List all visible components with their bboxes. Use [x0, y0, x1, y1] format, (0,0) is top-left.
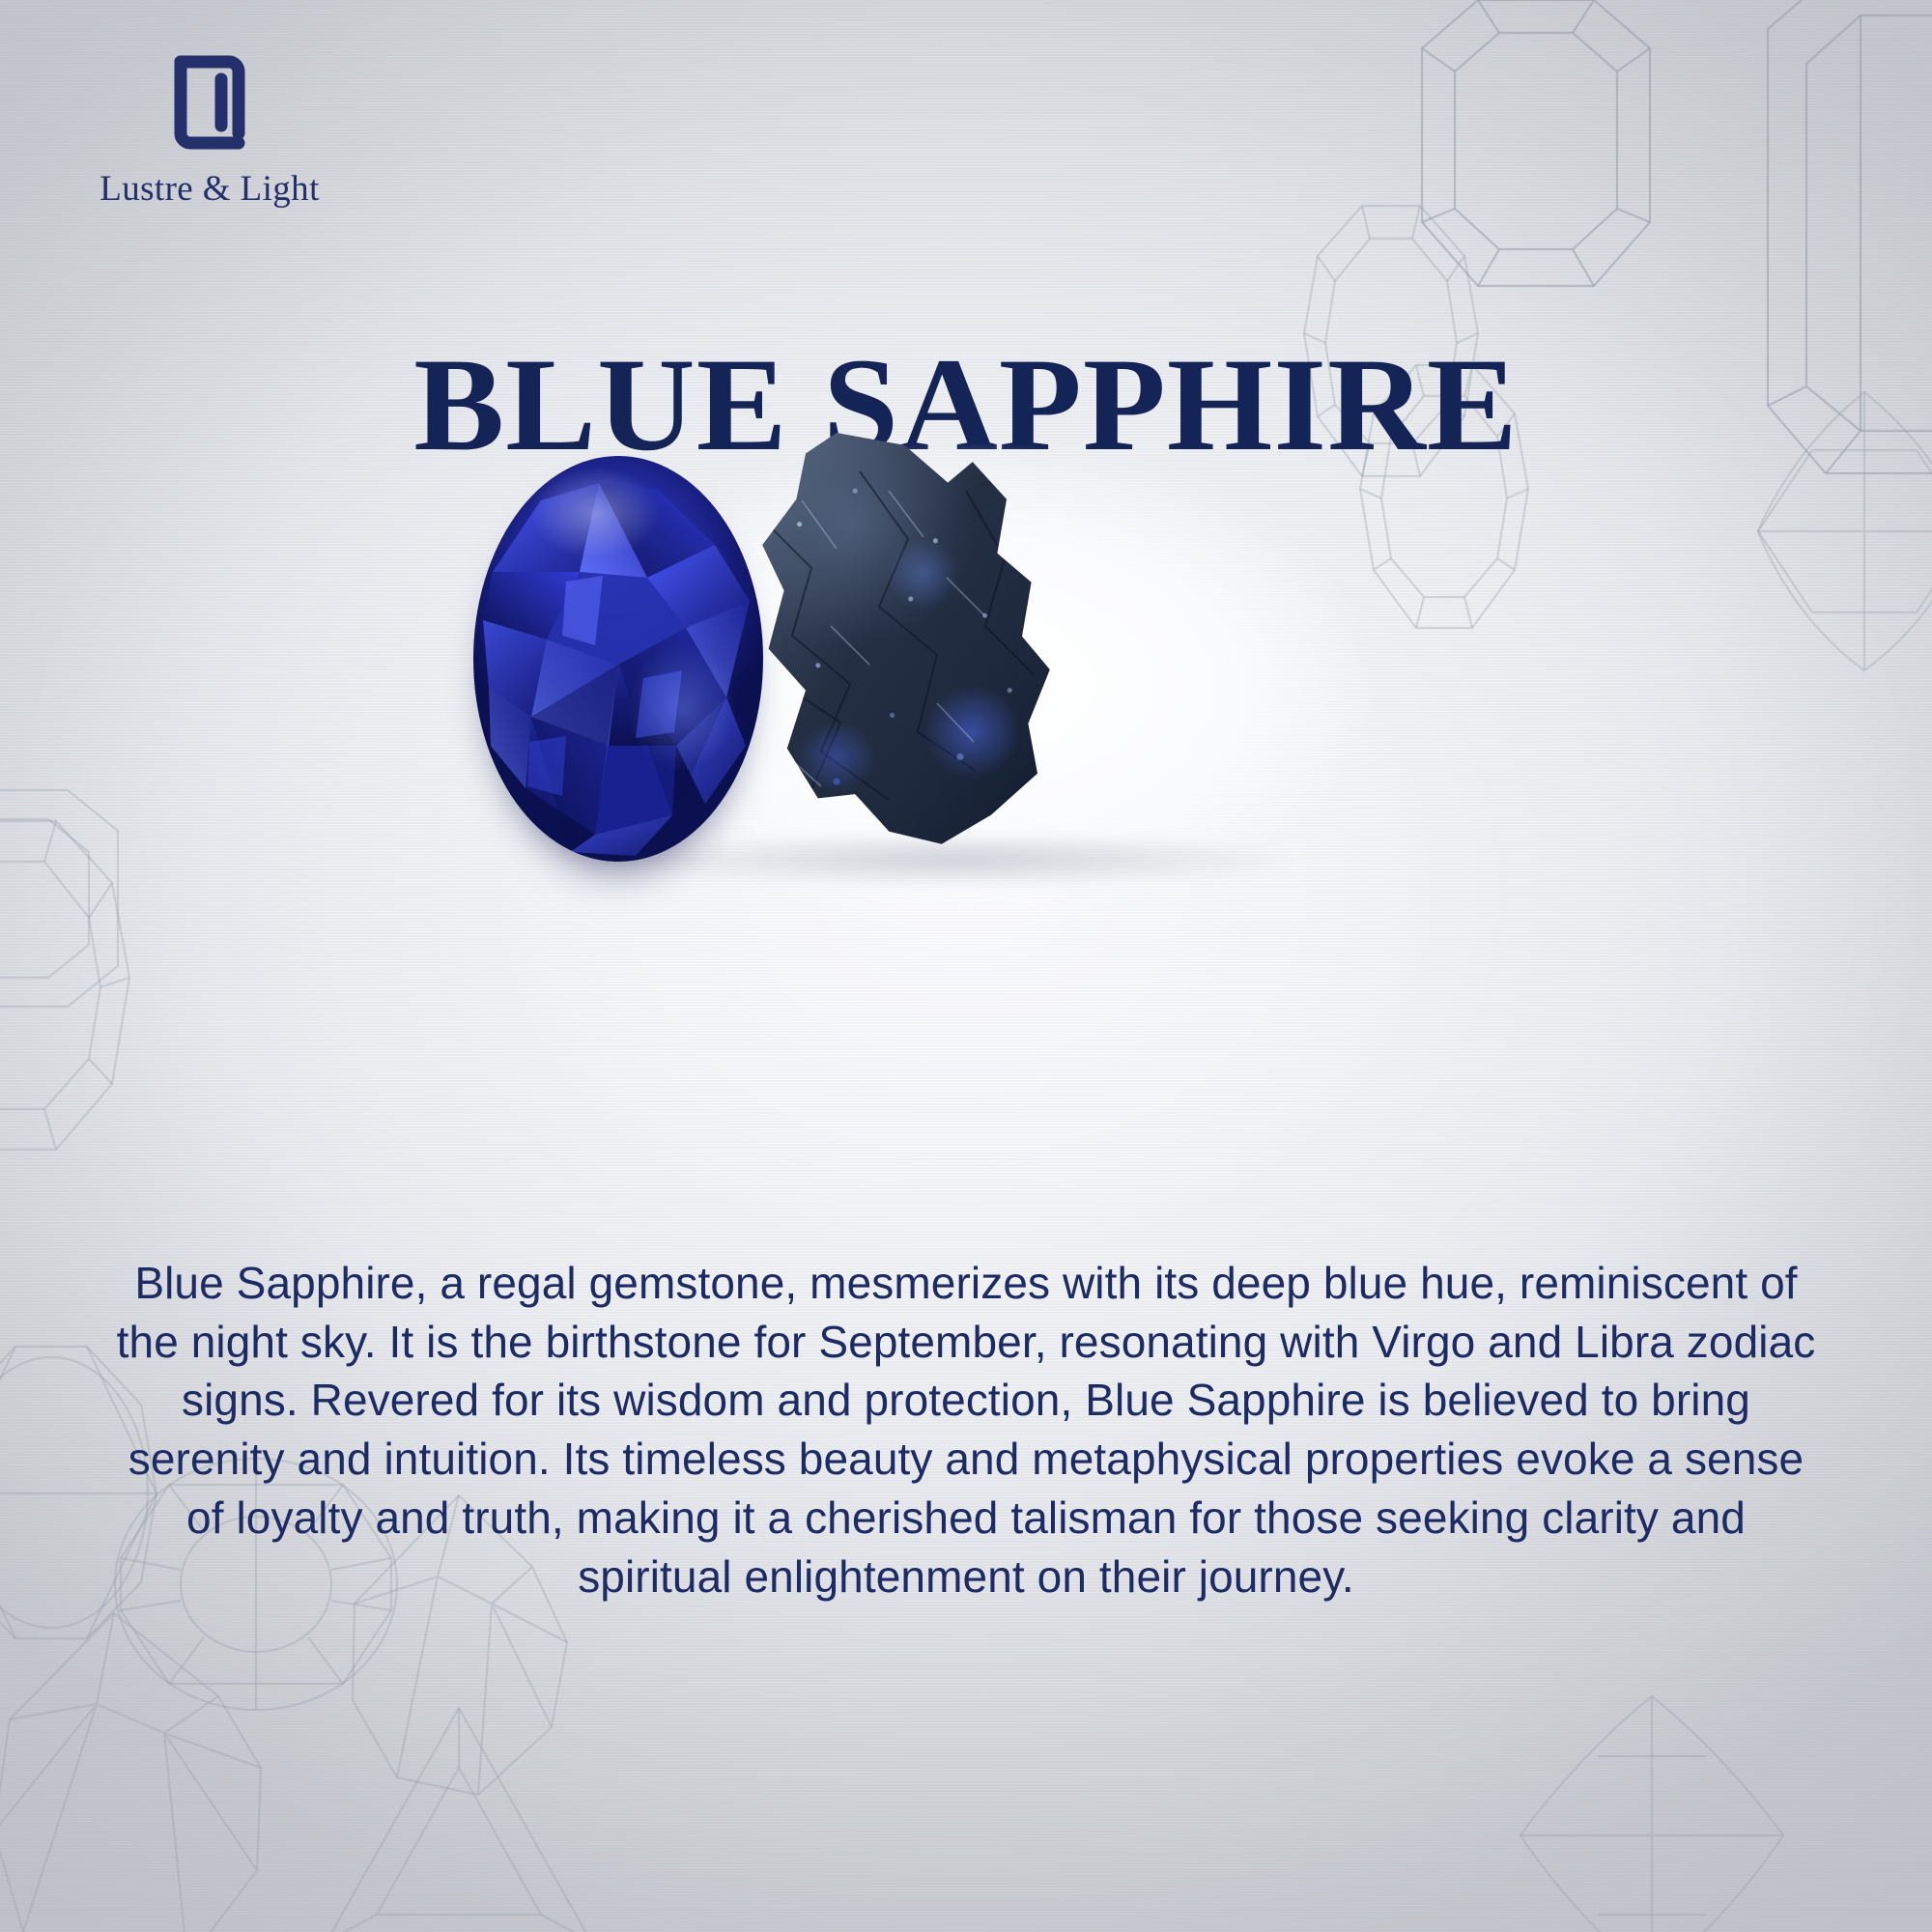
bracket-square-logo-icon: [165, 50, 254, 155]
marquise-cut-gem-outline-icon: [1507, 1690, 1797, 1932]
emerald-cut-gem-outline-icon: [0, 782, 126, 1014]
oval-cut-gem-outline-icon: [0, 811, 145, 1159]
emerald-cut-gem-outline-icon: [1410, 0, 1662, 299]
trillion-cut-gem-outline-icon: [319, 1700, 599, 1932]
pear-cut-gem-outline-icon: [0, 1604, 299, 1932]
poster-canvas: Lustre & Light BLUE SAPPHIRE: [0, 0, 1932, 1932]
oval-faceted-blue-sapphire: [473, 456, 763, 862]
hero-gem-stage: [415, 415, 1517, 956]
brand-logo[interactable]: Lustre & Light: [50, 50, 369, 210]
brand-name: Lustre & Light: [50, 168, 369, 210]
gem-sheen-highlight: [473, 456, 763, 862]
description-paragraph: Blue Sapphire, a regal gemstone, mesmeri…: [116, 1254, 1816, 1605]
